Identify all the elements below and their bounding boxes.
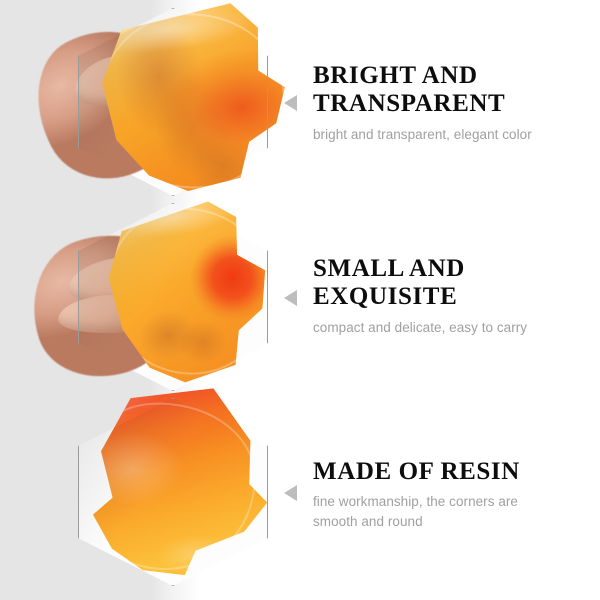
feature-subcopy: compact and delicate, easy to carry xyxy=(313,318,581,338)
feature-copy-small-and-exquisite: SMALL AND EXQUISITE compact and delicate… xyxy=(313,255,581,337)
hexagon-image-bright-and-transparent xyxy=(78,8,268,196)
feature-subcopy: bright and transparent, elegant color xyxy=(313,125,581,145)
feature-row-made-of-resin: MADE OF RESIN fine workmanship, the corn… xyxy=(0,390,600,590)
feature-headline: SMALL AND EXQUISITE xyxy=(313,255,581,312)
feature-copy-bright-and-transparent: BRIGHT AND TRANSPARENT bright and transp… xyxy=(313,62,581,144)
pointer-triangle-icon xyxy=(284,290,297,306)
hexagon-image-small-and-exquisite xyxy=(78,203,268,391)
feature-row-bright-and-transparent: BRIGHT AND TRANSPARENT bright and transp… xyxy=(0,0,600,200)
pointer-triangle-icon xyxy=(284,485,297,501)
hexagon-image-made-of-resin xyxy=(78,398,268,586)
pointer-triangle-icon xyxy=(284,95,297,111)
feature-headline: MADE OF RESIN xyxy=(313,458,581,486)
feature-row-small-and-exquisite: SMALL AND EXQUISITE compact and delicate… xyxy=(0,195,600,395)
feature-headline: BRIGHT AND TRANSPARENT xyxy=(313,62,581,119)
feature-subcopy: fine workmanship, the corners are smooth… xyxy=(313,492,581,531)
product-infographic: BRIGHT AND TRANSPARENT bright and transp… xyxy=(0,0,600,600)
feature-copy-made-of-resin: MADE OF RESIN fine workmanship, the corn… xyxy=(313,458,581,531)
